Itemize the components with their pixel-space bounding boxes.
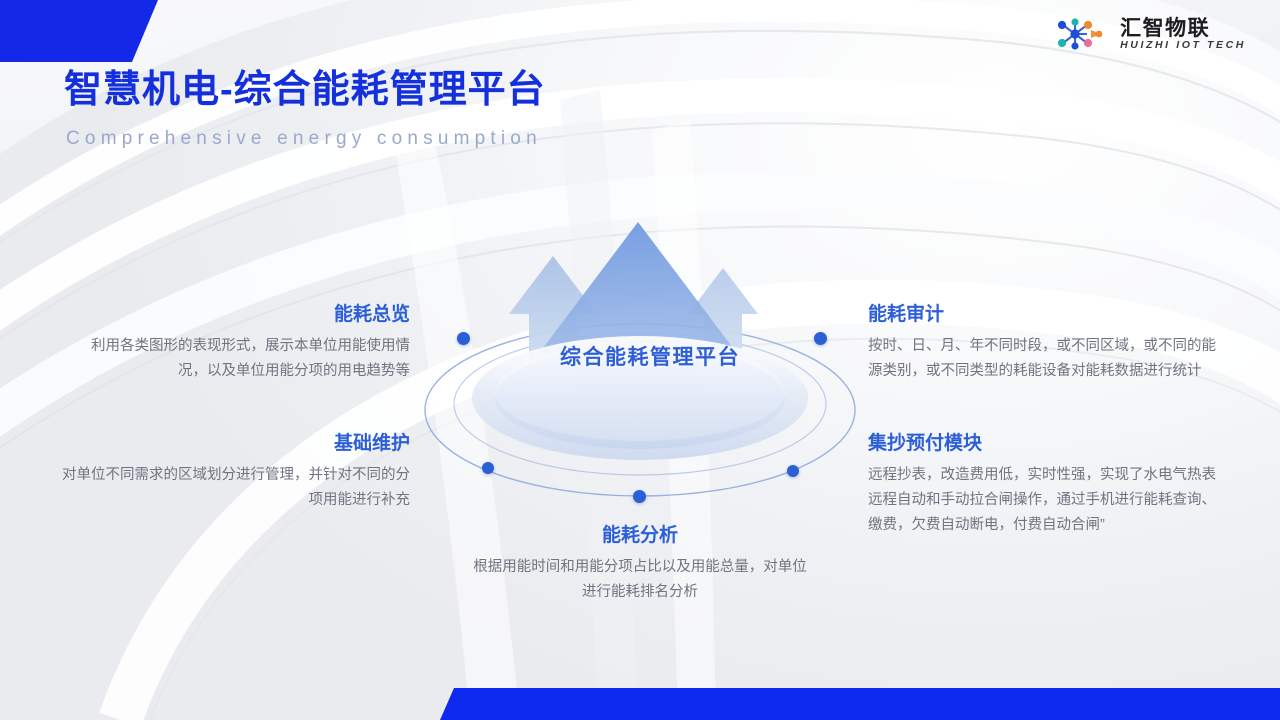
logo-name-cn: 汇智物联 [1120,18,1246,39]
orbit-dot-bottom-left [482,462,494,474]
brand-logo: 汇智物联 HUIZHI IOT TECH [1053,14,1246,54]
feature-block-analysis: 能耗分析 根据用能时间和用能分项占比以及用能总量，对单位进行能耗排名分析 [468,524,812,605]
feature-title-overview: 能耗总览 [66,303,410,327]
orbit-dot-bottom-center [633,490,646,503]
molecule-network-icon [1053,14,1111,54]
logo-name-en: HUIZHI IOT TECH [1120,40,1246,51]
slide-canvas: 智慧机电-综合能耗管理平台 Comprehensive energy consu… [0,0,1280,720]
page-title: 智慧机电-综合能耗管理平台 [64,70,546,112]
top-left-blue-corner [0,0,158,62]
feature-body-maintenance: 对单位不同需求的区域划分进行管理，并针对不同的分项用能进行补充 [60,463,410,513]
feature-title-audit: 能耗审计 [868,303,1220,327]
feature-body-audit: 按时、日、月、年不同时段，或不同区域，或不同的能源类别，或不同类型的耗能设备对能… [868,334,1220,384]
feature-block-prepay: 集抄预付模块 远程抄表，改造费用低，实时性强，实现了水电气热表远程自动和手动拉合… [868,432,1220,538]
feature-body-overview: 利用各类图形的表现形式，展示本单位用能使用情况，以及单位用能分项的用电趋势等 [66,334,410,384]
feature-title-prepay: 集抄预付模块 [868,432,1220,456]
page-subtitle: Comprehensive energy consumption [66,128,542,150]
feature-body-analysis: 根据用能时间和用能分项占比以及用能总量，对单位进行能耗排名分析 [468,555,812,605]
center-platform-label: 综合能耗管理平台 [400,341,900,371]
feature-body-prepay: 远程抄表，改造费用低，实时性强，实现了水电气热表远程自动和手动拉合闸操作，通过手… [868,463,1220,538]
logo-wordmark: 汇智物联 HUIZHI IOT TECH [1120,18,1246,51]
feature-title-analysis: 能耗分析 [468,524,812,548]
feature-title-maintenance: 基础维护 [60,432,410,456]
orbit-dot-bottom-right [787,465,799,477]
feature-block-audit: 能耗审计 按时、日、月、年不同时段，或不同区域，或不同的能源类别，或不同类型的耗… [868,303,1220,384]
bottom-blue-bar [440,688,1280,720]
feature-block-maintenance: 基础维护 对单位不同需求的区域划分进行管理，并针对不同的分项用能进行补充 [60,432,410,513]
feature-block-overview: 能耗总览 利用各类图形的表现形式，展示本单位用能使用情况，以及单位用能分项的用电… [66,303,410,384]
